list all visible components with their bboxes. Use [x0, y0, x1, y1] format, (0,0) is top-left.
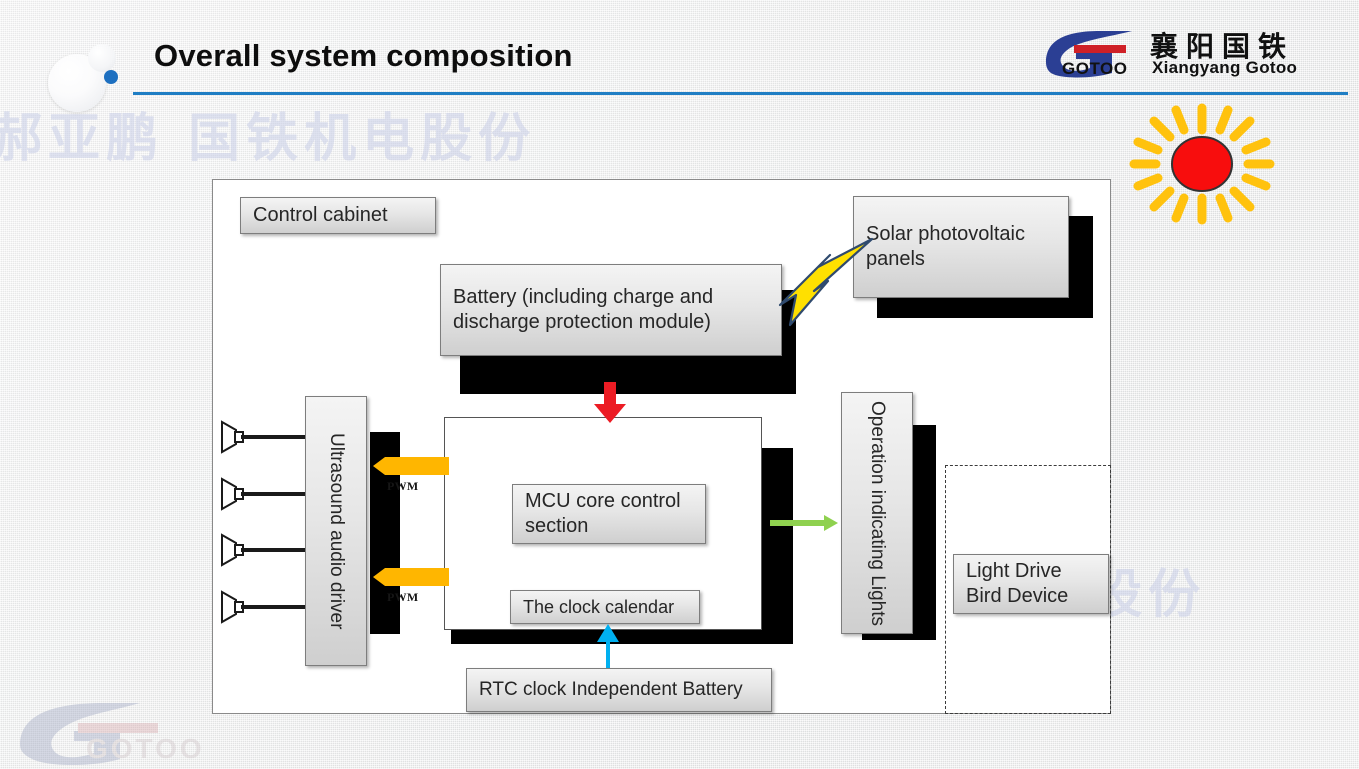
node-solar-panels[interactable]: Solar photovoltaic panels	[853, 196, 1069, 298]
node-clock-calendar[interactable]: The clock calendar	[510, 590, 700, 624]
decor-circle-small	[88, 44, 116, 72]
node-label: Solar photovoltaic panels	[866, 222, 1056, 272]
node-label: The clock calendar	[523, 596, 674, 619]
node-rtc-battery[interactable]: RTC clock Independent Battery	[466, 668, 772, 712]
pwm-arrow-top	[373, 455, 449, 477]
node-mcu-core[interactable]: MCU core control section	[512, 484, 706, 544]
brand-logo: 襄阳国铁 GOTOO Xiangyang Gotoo	[1040, 26, 1350, 84]
arrow-battery-to-mcu	[592, 382, 628, 424]
speaker-wire	[241, 548, 307, 552]
arrow-rtc-to-clock	[592, 622, 624, 672]
node-label: MCU core control section	[525, 489, 693, 539]
arrow-mcu-to-lights	[770, 513, 840, 533]
node-label: Operation indicating Lights	[865, 401, 889, 626]
node-label: RTC clock Independent Battery	[479, 678, 743, 702]
node-battery[interactable]: Battery (including charge and discharge …	[440, 264, 782, 356]
brand-english-name: Xiangyang Gotoo	[1152, 58, 1297, 78]
footer-logo-text: GOTOO	[86, 733, 205, 765]
speaker-wire	[241, 492, 307, 496]
node-label: Ultrasound audio driver	[324, 433, 348, 629]
lightning-bolt-icon	[768, 233, 878, 333]
node-label: Battery (including charge and discharge …	[453, 285, 769, 335]
slide-canvas: 郝亚鹏 国铁机电股份 郝亚鹏 国铁机电股份 郝亚鹏 国铁机电股份 GOTOO O…	[0, 0, 1359, 769]
node-ultrasound-audio-driver[interactable]: Ultrasound audio driver	[305, 396, 367, 666]
title-underline	[133, 92, 1348, 95]
node-label: Control cabinet	[253, 203, 388, 228]
footer-logo: GOTOO	[8, 697, 218, 767]
gotoo-logo-icon	[8, 697, 218, 767]
sun-icon	[1128, 104, 1276, 224]
pwm-arrow-bottom	[373, 566, 449, 588]
node-operation-indicating-lights[interactable]: Operation indicating Lights	[841, 392, 913, 634]
decor-dot-blue	[104, 70, 118, 84]
pwm-label-top: PWM	[387, 479, 419, 494]
page-title: Overall system composition	[154, 38, 573, 74]
node-control-cabinet[interactable]: Control cabinet	[240, 197, 436, 234]
pwm-label-bottom: PWM	[387, 590, 419, 605]
node-label: Light Drive Bird Device	[966, 559, 1096, 609]
speaker-wire	[241, 435, 307, 439]
node-light-drive-bird-device[interactable]: Light Drive Bird Device	[953, 554, 1109, 614]
brand-gotoo-label: GOTOO	[1062, 59, 1127, 79]
speaker-wire	[241, 605, 307, 609]
